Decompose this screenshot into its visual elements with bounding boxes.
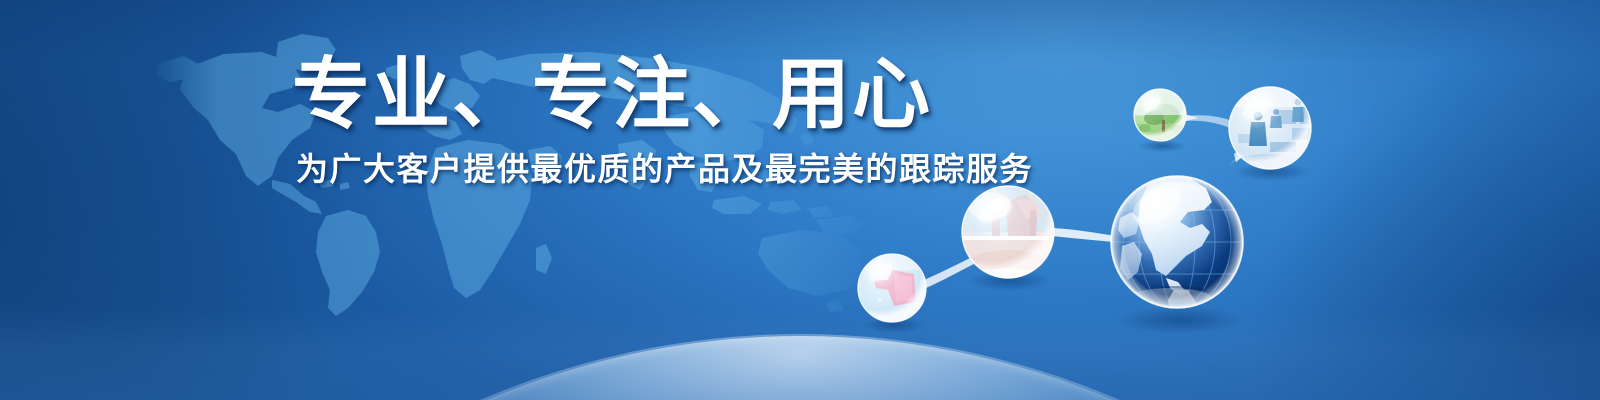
bottom-fade [0, 308, 1600, 400]
connector-port-to-product [924, 258, 974, 288]
nature-sphere [1134, 89, 1186, 141]
product-sphere [858, 254, 926, 322]
port-sphere [962, 186, 1054, 284]
sphere-cluster [830, 50, 1290, 360]
globe-shadow [1118, 306, 1242, 334]
connector-globe-to-port [1052, 228, 1116, 242]
nature-sphere-shadow [1138, 140, 1186, 152]
promo-banner: 专业、专注、用心 为广大客户提供最优质的产品及最完美的跟踪服务 [0, 0, 1600, 400]
